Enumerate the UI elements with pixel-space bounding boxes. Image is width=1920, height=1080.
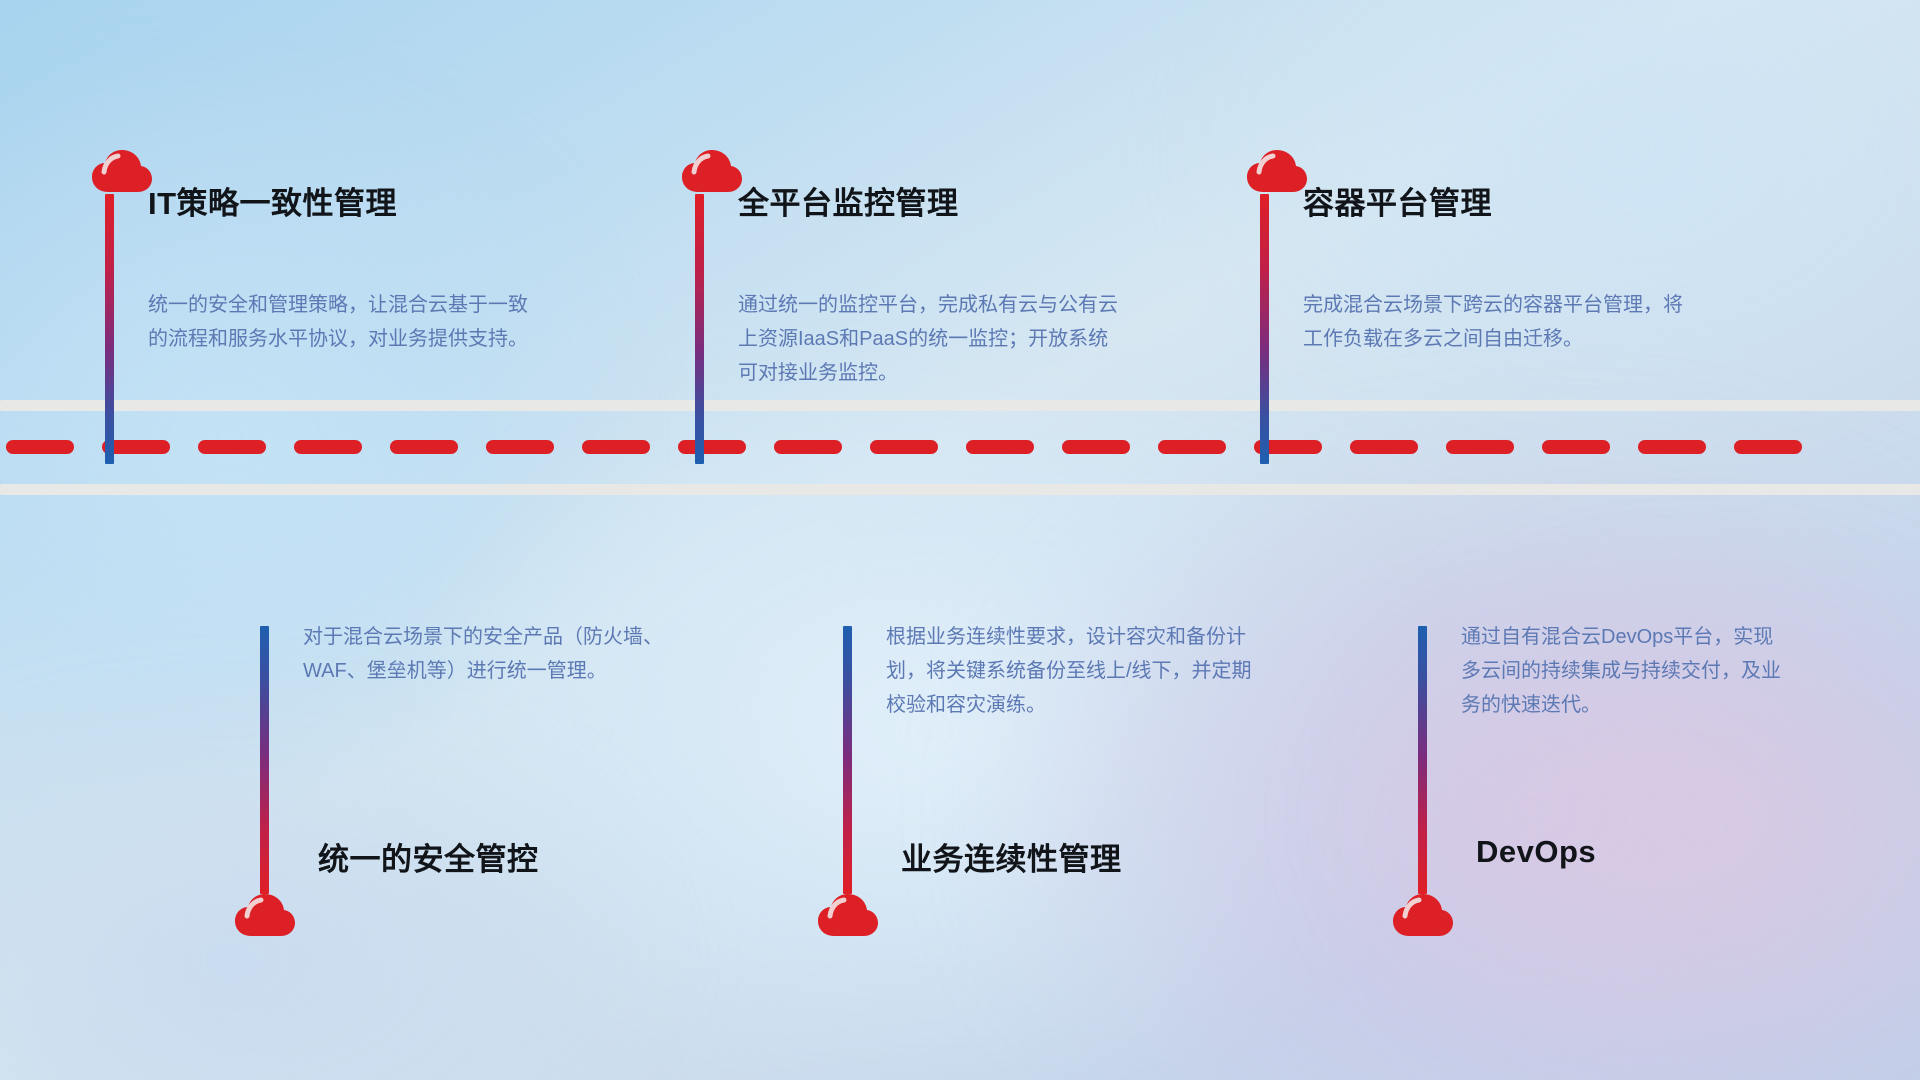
cloud-icon xyxy=(1392,894,1454,938)
cloud-icon xyxy=(1246,150,1308,194)
road-dash xyxy=(1446,440,1514,454)
road-dash xyxy=(1062,440,1130,454)
background-glow-bottom-left xyxy=(0,700,680,1080)
cloud-icon xyxy=(234,894,296,938)
road-dash xyxy=(294,440,362,454)
card-body: 根据业务连续性要求，设计容灾和备份计划，将关键系统备份至线上/线下，并定期校验和… xyxy=(886,620,1266,722)
card-title: DevOps xyxy=(1476,834,1596,870)
road-line-top xyxy=(0,400,1920,411)
road-dashed-center-line xyxy=(0,440,1920,454)
cloud-icon xyxy=(817,894,879,938)
road-dash xyxy=(486,440,554,454)
card-title: 统一的安全管控 xyxy=(318,834,539,879)
card-body: 完成混合云场景下跨云的容器平台管理，将工作负载在多云之间自由迁移。 xyxy=(1303,288,1683,356)
road-dash xyxy=(1734,440,1802,454)
road-dash xyxy=(1542,440,1610,454)
road-dash xyxy=(390,440,458,454)
road-dash xyxy=(870,440,938,454)
road-dash xyxy=(198,440,266,454)
road-dash xyxy=(6,440,74,454)
card-body: 通过统一的监控平台，完成私有云与公有云上资源IaaS和PaaS的统一监控；开放系… xyxy=(738,288,1118,390)
connector-stem xyxy=(260,626,269,894)
road-dash xyxy=(1350,440,1418,454)
card-title: 容器平台管理 xyxy=(1303,178,1492,223)
connector-stem xyxy=(695,194,704,464)
cloud-icon xyxy=(91,150,153,194)
road-dash xyxy=(1158,440,1226,454)
connector-stem xyxy=(1418,626,1427,894)
card-body: 统一的安全和管理策略，让混合云基于一致的流程和服务水平协议，对业务提供支持。 xyxy=(148,288,528,356)
road-dash xyxy=(1638,440,1706,454)
road-dash xyxy=(678,440,746,454)
connector-stem xyxy=(105,194,114,464)
road-dash xyxy=(774,440,842,454)
road-line-bottom xyxy=(0,484,1920,495)
card-title: 业务连续性管理 xyxy=(901,834,1122,879)
connector-stem xyxy=(843,626,852,894)
connector-stem xyxy=(1260,194,1269,464)
card-title: 全平台监控管理 xyxy=(738,178,959,223)
card-body: 通过自有混合云DevOps平台，实现多云间的持续集成与持续交付，及业务的快速迭代… xyxy=(1461,620,1791,722)
road-dash xyxy=(966,440,1034,454)
road-dash xyxy=(582,440,650,454)
card-title: IT策略一致性管理 xyxy=(148,178,397,223)
card-body: 对于混合云场景下的安全产品（防火墙、WAF、堡垒机等）进行统一管理。 xyxy=(303,620,683,688)
cloud-icon xyxy=(681,150,743,194)
